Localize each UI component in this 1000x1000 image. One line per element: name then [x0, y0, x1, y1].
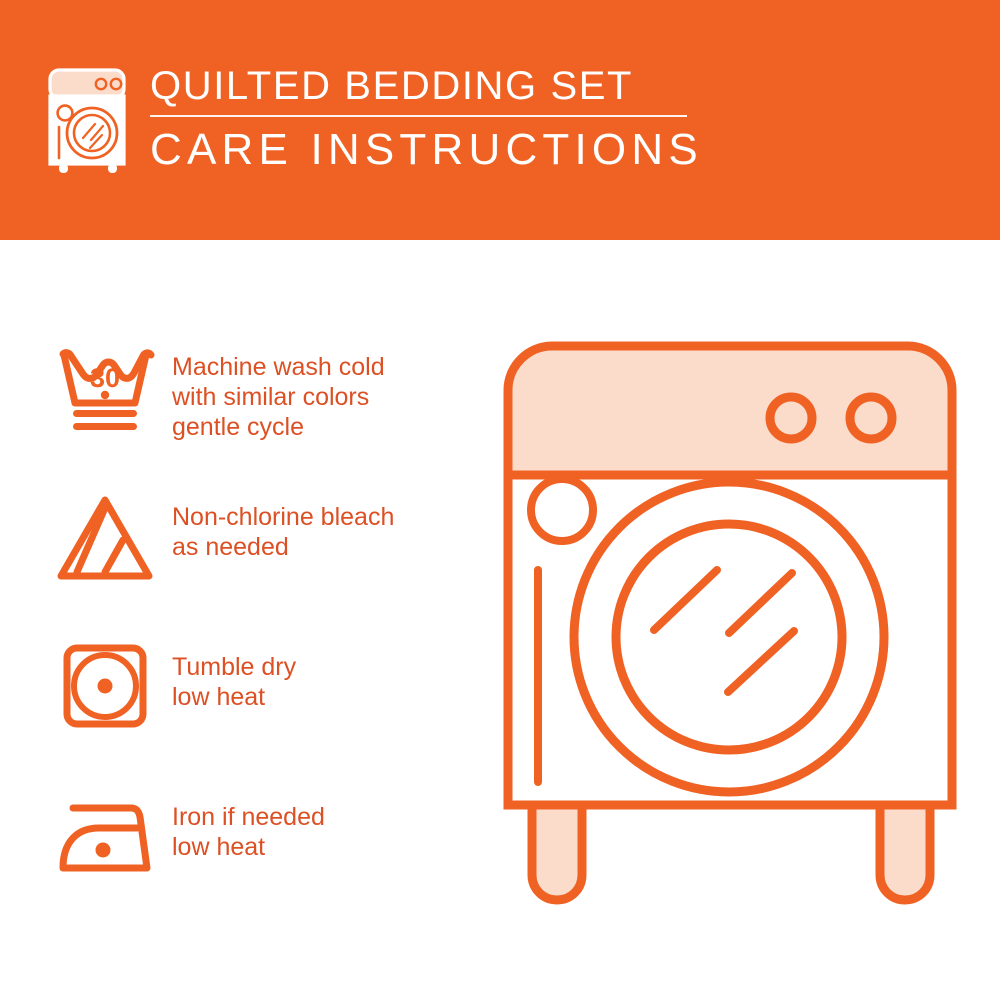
page-title-care: CARE INSTRUCTIONS: [150, 126, 703, 174]
care-row-wash: 30 Machine wash cold with similar colors…: [46, 330, 476, 480]
iron-heat-dot-icon: [96, 843, 111, 858]
care-text-iron: Iron if needed low heat: [164, 780, 325, 862]
control-panel: [508, 346, 952, 475]
page-title-product: QUILTED BEDDING SET: [150, 64, 703, 108]
care-text-line: with similar colors: [172, 382, 385, 412]
care-text-line: Tumble dry: [172, 652, 296, 682]
title-block: QUILTED BEDDING SET CARE INSTRUCTIONS: [150, 62, 703, 174]
care-row-iron: Iron if needed low heat: [46, 780, 476, 930]
wash-dot-icon: [101, 391, 109, 399]
washing-machine-illustration: [480, 330, 980, 945]
tumble-dry-icon: [53, 640, 157, 736]
care-text-line: as needed: [172, 532, 394, 562]
care-symbol-wrapper: [46, 480, 164, 586]
leg-right: [880, 805, 930, 900]
bleach-triangle-icon: [53, 490, 157, 586]
iron-icon: [53, 790, 157, 886]
dry-heat-dot-icon: [98, 679, 113, 694]
care-text-line: gentle cycle: [172, 412, 385, 442]
washing-machine-icon: [44, 66, 136, 176]
header-content: QUILTED BEDDING SET CARE INSTRUCTIONS: [44, 62, 703, 176]
leg-left: [532, 805, 582, 900]
care-text-line: low heat: [172, 682, 296, 712]
care-symbol-wrapper: [46, 630, 164, 736]
care-instruction-list: 30 Machine wash cold with similar colors…: [46, 330, 476, 930]
wash-temperature-label: 30: [90, 363, 120, 393]
care-text-tumble-dry: Tumble dry low heat: [164, 630, 296, 712]
care-symbol-wrapper: [46, 780, 164, 886]
care-row-bleach: Non-chlorine bleach as needed: [46, 480, 476, 630]
care-text-line: Non-chlorine bleach: [172, 502, 394, 532]
care-text-bleach: Non-chlorine bleach as needed: [164, 480, 394, 562]
care-text-line: Iron if needed: [172, 802, 325, 832]
gentle-bar-1: [73, 410, 137, 417]
care-text-line: low heat: [172, 832, 325, 862]
title-divider: [150, 115, 687, 117]
care-text-wash: Machine wash cold with similar colors ge…: [164, 330, 385, 442]
gentle-bar-2: [73, 423, 137, 430]
care-text-line: Machine wash cold: [172, 352, 385, 382]
care-row-tumble-dry: Tumble dry low heat: [46, 630, 476, 780]
header-banner: QUILTED BEDDING SET CARE INSTRUCTIONS: [0, 0, 1000, 240]
care-symbol-wrapper: 30: [46, 330, 164, 436]
wash-tub-icon: 30: [53, 340, 157, 436]
